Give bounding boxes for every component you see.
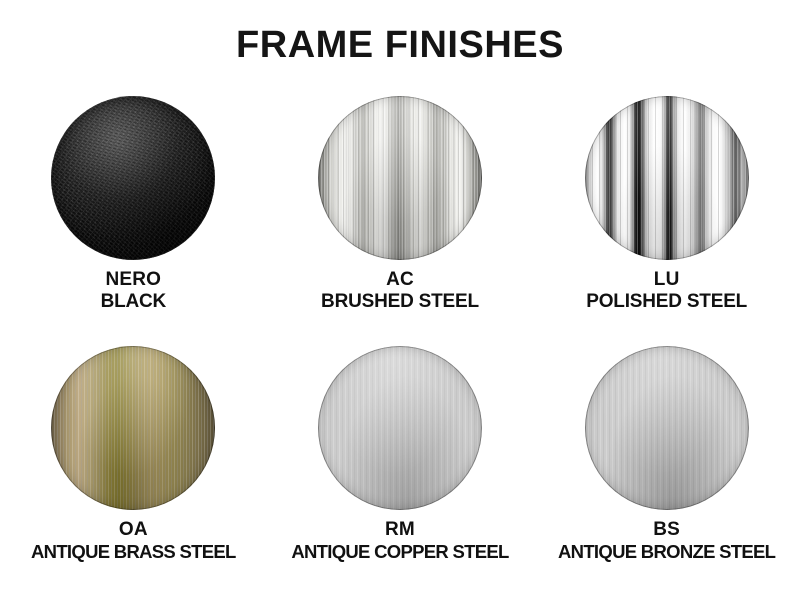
finish-code: NERO [101, 269, 167, 291]
texture-layer [585, 346, 749, 510]
finish-code: AC [321, 269, 479, 291]
finish-name: ANTIQUE BRASS STEEL [31, 541, 236, 562]
swatch-disc [585, 346, 749, 510]
frame-finishes-sheet: FRAME FINISHES NERO BLACK [0, 0, 800, 600]
finish-name: POLISHED STEEL [586, 291, 747, 313]
finish-item-bs[interactable]: BS ANTIQUE BRONZE STEEL [533, 346, 800, 562]
texture-layer [318, 96, 482, 260]
swatch-ac-brushed-steel[interactable] [318, 96, 482, 260]
texture-layer [585, 96, 749, 260]
finish-name: BLACK [101, 291, 167, 313]
swatch-rm-antique-copper-steel[interactable] [318, 346, 482, 510]
swatch-lu-polished-steel[interactable] [585, 96, 749, 260]
finish-item-rm[interactable]: RM ANTIQUE COPPER STEEL [267, 346, 534, 562]
finish-label: OA ANTIQUE BRASS STEEL [31, 519, 236, 562]
finish-item-oa[interactable]: OA ANTIQUE BRASS STEEL [0, 346, 267, 562]
swatch-disc [51, 346, 215, 510]
swatch-oa-antique-brass-steel[interactable] [51, 346, 215, 510]
finish-name: ANTIQUE COPPER STEEL [291, 541, 508, 562]
finish-label: RM ANTIQUE COPPER STEEL [291, 519, 508, 562]
swatch-disc [51, 96, 215, 260]
page-title: FRAME FINISHES [0, 26, 800, 64]
finish-name: BRUSHED STEEL [321, 291, 479, 313]
finish-item-lu[interactable]: LU POLISHED STEEL [533, 96, 800, 313]
finish-label: NERO BLACK [101, 269, 167, 313]
swatch-bs-antique-bronze-steel[interactable] [585, 346, 749, 510]
swatch-nero-black[interactable] [51, 96, 215, 260]
texture-layer [51, 96, 215, 260]
finish-item-nero[interactable]: NERO BLACK [0, 96, 267, 313]
finish-code: OA [31, 519, 236, 541]
texture-layer [318, 346, 482, 510]
finish-code: LU [586, 269, 747, 291]
finish-code: RM [291, 519, 508, 541]
finish-label: LU POLISHED STEEL [586, 269, 747, 313]
finish-label: AC BRUSHED STEEL [321, 269, 479, 313]
finish-swatch-grid: NERO BLACK AC BRUSHED STEEL [0, 96, 800, 596]
swatch-disc [318, 96, 482, 260]
swatch-disc [585, 96, 749, 260]
finish-code: BS [558, 519, 775, 541]
finish-label: BS ANTIQUE BRONZE STEEL [558, 519, 775, 562]
texture-layer [51, 346, 215, 510]
finish-name: ANTIQUE BRONZE STEEL [558, 541, 775, 562]
finish-item-ac[interactable]: AC BRUSHED STEEL [267, 96, 534, 313]
swatch-disc [318, 346, 482, 510]
